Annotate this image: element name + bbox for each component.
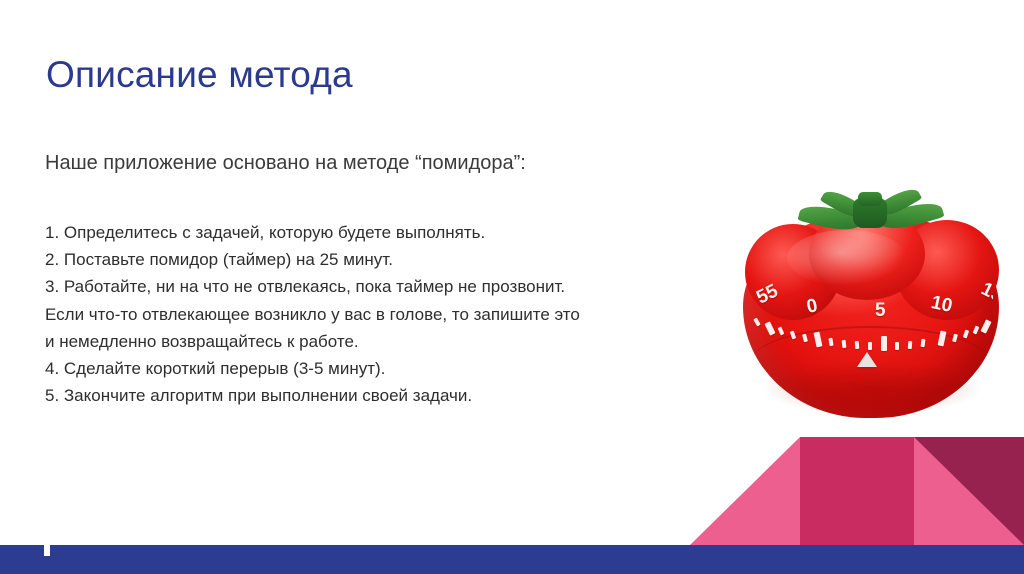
tomato-shadow-icon [761,360,983,416]
method-steps-list: 1. Определитесь с задачей, которую будет… [45,219,695,409]
footer-bar [0,545,1024,574]
dial-tick-minor [908,341,913,349]
timer-dial: 55 0 5 10 15 [749,282,993,354]
tomato-highlight-icon [787,230,907,286]
list-item: Если что-то отвлекающее возникло у вас в… [45,301,695,328]
dial-tick-minor [973,326,980,335]
dial-number-0: 0 [805,295,820,319]
tomato-illustration: 55 0 5 10 15 [735,190,1007,422]
timer-pointer-icon [857,352,877,367]
dial-number-15: 15 [977,282,993,308]
dial-number-55: 55 [753,282,782,310]
dial-tick-minor [963,330,969,339]
dial-tick-minor [868,342,872,350]
list-item: 1. Определитесь с задачей, которую будет… [45,219,695,246]
dial-tick-minor [778,327,785,336]
dial-tick-major [881,336,887,351]
list-item: 2. Поставьте помидор (таймер) на 25 мину… [45,246,695,273]
list-item: 5. Закончите алгоритм при выполнении сво… [45,382,695,409]
dial-number-10: 10 [929,292,954,318]
dial-tick-minor [842,340,847,348]
intro-text: Наше приложение основано на методе “поми… [45,150,526,176]
page-title: Описание метода [46,53,353,97]
dial-tick-minor [895,342,899,350]
dial-number-5: 5 [875,300,886,322]
list-item: 3. Работайте, ни на что не отвлекаясь, п… [45,273,695,300]
tomato-timer-image: 55 0 5 10 15 [735,190,1007,422]
list-item: 4. Сделайте короткий перерыв (3-5 минут)… [45,355,695,382]
list-item: и немедленно возвращайтесь к работе. [45,328,695,355]
deco-shape-pink-dark [800,437,914,545]
footer-tick-mark [44,545,50,556]
dial-tick-minor [753,318,760,327]
slide: Описание метода Наше приложение основано… [0,0,1024,574]
dial-tick-major [764,321,775,335]
tomato-stem-cap-icon [858,192,882,206]
dial-tick-minor [855,341,860,349]
dial-tick-major [980,319,991,333]
